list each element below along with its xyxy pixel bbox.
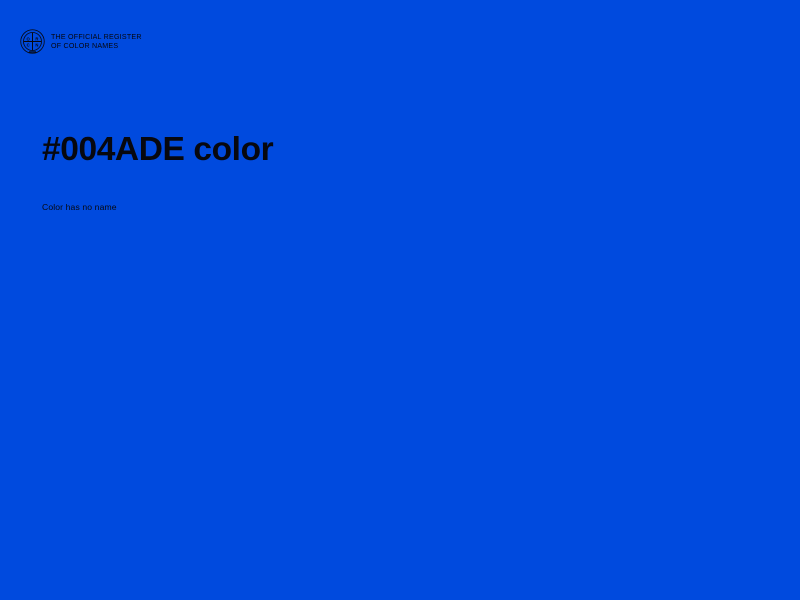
svg-text:C: C — [27, 43, 30, 48]
color-page: O R C N THE OFFICIAL REGISTER OF COLOR N… — [0, 0, 800, 600]
page-title: #004ADE color — [42, 130, 742, 170]
svg-text:R: R — [35, 36, 38, 41]
masthead-title: THE OFFICIAL REGISTER OF COLOR NAMES — [51, 32, 142, 50]
svg-text:N: N — [35, 43, 38, 48]
official-register-seal-icon: O R C N — [20, 29, 45, 54]
masthead-line-1: THE OFFICIAL REGISTER — [51, 33, 142, 42]
color-name-status: Color has no name — [42, 170, 742, 213]
svg-text:O: O — [27, 36, 31, 41]
masthead-brand[interactable]: O R C N THE OFFICIAL REGISTER OF COLOR N… — [20, 29, 142, 54]
color-detail-block: #004ADE color Color has no name — [42, 130, 742, 213]
masthead-line-2: OF COLOR NAMES — [51, 42, 142, 51]
